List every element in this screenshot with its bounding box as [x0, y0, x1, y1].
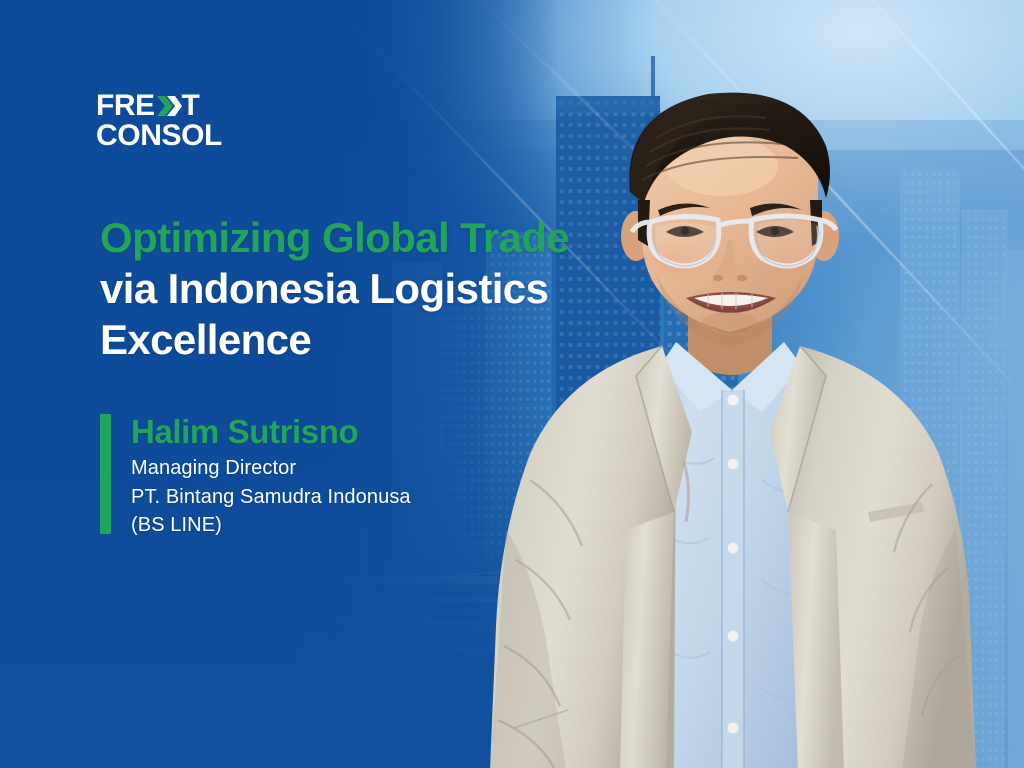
slide-content: FRE T CONSOL Optimizing Global Trade via… [0, 0, 1024, 768]
logo-text-part1: FRE [96, 92, 155, 120]
title-line-2: via Indonesia Logistics [100, 263, 569, 314]
double-chevron-right-icon [156, 93, 182, 119]
logo-line-2: CONSOL [96, 122, 222, 150]
speaker-block: Halim Sutrisno Managing Director PT. Bin… [100, 414, 411, 539]
logo-text-part2: T [182, 92, 200, 120]
speaker-company-short: (BS LINE) [131, 511, 411, 539]
title-line-1: Optimizing Global Trade [100, 212, 569, 263]
title-line-3: Excellence [100, 314, 569, 365]
logo-line-1: FRE T [96, 92, 222, 120]
speaker-name: Halim Sutrisno [131, 414, 411, 450]
slide-title: Optimizing Global Trade via Indonesia Lo… [100, 212, 569, 366]
speaker-role: Managing Director [131, 454, 411, 482]
speaker-credentials: Managing Director PT. Bintang Samudra In… [131, 454, 411, 539]
speaker-details: Halim Sutrisno Managing Director PT. Bin… [131, 414, 411, 539]
freight-consol-logo[interactable]: FRE T CONSOL [96, 92, 222, 149]
slide-canvas: FRE T CONSOL Optimizing Global Trade via… [0, 0, 1024, 768]
speaker-accent-bar [100, 414, 111, 534]
speaker-company: PT. Bintang Samudra Indonusa [131, 483, 411, 511]
